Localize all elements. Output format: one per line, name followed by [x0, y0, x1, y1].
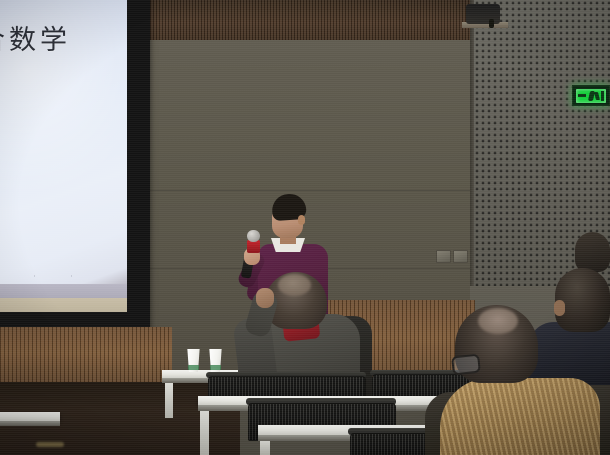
wall-plate[interactable] [453, 250, 468, 263]
audience-back-head [575, 232, 610, 272]
desk-leg [260, 441, 270, 455]
desk-leg [165, 383, 173, 418]
paper-cup-band [210, 365, 221, 370]
exit-door-icon [601, 91, 604, 101]
projection-screen-surface: 合数学 · · · [0, 0, 127, 312]
audience-rear-head [555, 268, 610, 332]
slide-title-text: 合数学 [0, 18, 71, 57]
speaker-ear [298, 215, 305, 225]
microphone-head-icon [247, 230, 260, 242]
emergency-exit-sign [572, 85, 610, 106]
audience-glasses-scalp [478, 308, 518, 334]
wood-wainscot-left [0, 327, 172, 385]
exit-sign-panel [576, 89, 606, 103]
slide-faint-text: · · · [0, 272, 89, 281]
mounted-camera-icon [466, 4, 500, 24]
screen-bottom-band [0, 298, 127, 312]
camera-lens-icon [489, 19, 494, 28]
eyeglasses-icon [451, 354, 481, 376]
audience-rear-ear [554, 300, 565, 316]
desk-leg [200, 411, 209, 455]
audience-front-hand [256, 288, 274, 308]
running-figure-leg-icon [594, 92, 600, 100]
exit-arrow-icon [578, 94, 586, 97]
desk-surface [0, 412, 60, 421]
desk-edge [0, 421, 60, 426]
paper-cup-band [188, 365, 199, 370]
fur-collar [440, 378, 600, 455]
wall-plate[interactable] [436, 250, 451, 263]
audience-front-scalp [278, 274, 311, 296]
projection-screen-frame: 合数学 · · · [0, 0, 150, 334]
lecture-hall-photo: 合数学 · · · [0, 0, 610, 455]
floor-reflection [36, 442, 64, 447]
